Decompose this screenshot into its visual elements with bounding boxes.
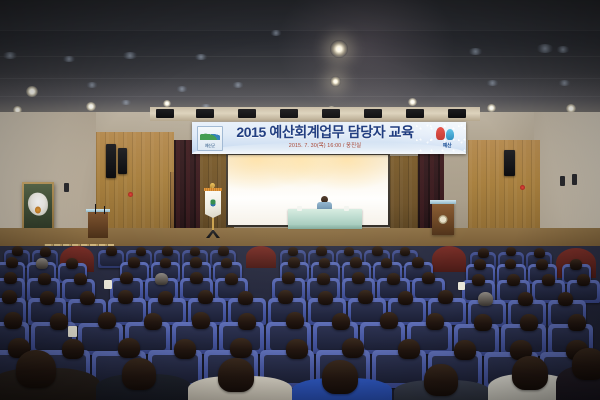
ceremonial-flag (202, 186, 224, 238)
lectern-top (430, 200, 456, 204)
flag-emblem-icon (209, 197, 218, 206)
handout-paper (104, 280, 112, 289)
ceiling-light (86, 102, 96, 111)
stage-light (196, 109, 214, 118)
lectern-emblem-icon (439, 215, 448, 224)
stage-light (406, 109, 424, 118)
ceiling-light (408, 98, 417, 106)
framed-flower-painting (22, 182, 54, 230)
county-logo: 예산군 (197, 126, 223, 151)
fire-alarm-icon (128, 192, 133, 197)
mascot-graphic: 예산 (434, 127, 460, 149)
banner-title: 2015 예산회계업무 담당자 교육 (236, 124, 414, 140)
flag-cloth (205, 190, 221, 218)
ceiling-light (330, 76, 341, 87)
table-item (297, 206, 302, 211)
logo-caption: 예산군 (198, 143, 222, 149)
table-item (344, 206, 349, 211)
stage-light (280, 109, 298, 118)
banner-subtitle: 2015. 7. 30(목) 16:00 / 웅진실 (236, 141, 414, 149)
lectern-secondary (88, 212, 108, 238)
fire-alarm-icon (520, 185, 525, 190)
stage-light (156, 109, 174, 118)
logo-mountain-icon (200, 132, 220, 140)
wall-sconce (64, 183, 69, 192)
stage-light (364, 109, 382, 118)
mascot-blue-figure-icon (446, 129, 454, 140)
auditorium-photo: 예산군 2015 예산회계업무 담당자 교육 2015. 7. 30(목) 16… (0, 0, 600, 400)
microphone (104, 206, 105, 214)
aisle-carpet (246, 246, 276, 268)
ceiling-downlights (0, 0, 600, 118)
mascot-red-figure-icon (436, 127, 445, 140)
head-table (288, 209, 362, 227)
wall-sconce (560, 176, 565, 186)
ceiling-light (487, 104, 496, 112)
stage-light (238, 109, 256, 118)
ceiling-light (26, 86, 38, 97)
wall-speaker (118, 148, 127, 174)
flag-stand-base (206, 230, 220, 238)
stage-curtain (174, 140, 200, 236)
handout-paper (68, 326, 77, 337)
stage-light (322, 109, 340, 118)
ceiling-light (330, 40, 348, 58)
stage-light (448, 109, 466, 118)
event-banner: 예산군 2015 예산회계업무 담당자 교육 2015. 7. 30(목) 16… (192, 122, 466, 154)
stage-light-bar (150, 107, 480, 121)
wall-speaker (106, 144, 116, 178)
handout-paper (458, 282, 465, 290)
seated-audience (0, 246, 600, 400)
flag-fringe (204, 188, 222, 191)
mascot-caption: 예산 (434, 142, 460, 149)
microphone (95, 204, 96, 214)
lectern-top (86, 209, 110, 212)
ceiling-light (163, 100, 171, 107)
lectern (432, 203, 454, 235)
wall-speaker (504, 150, 515, 176)
aisle-carpet (432, 246, 466, 272)
wall-sconce (572, 174, 577, 185)
